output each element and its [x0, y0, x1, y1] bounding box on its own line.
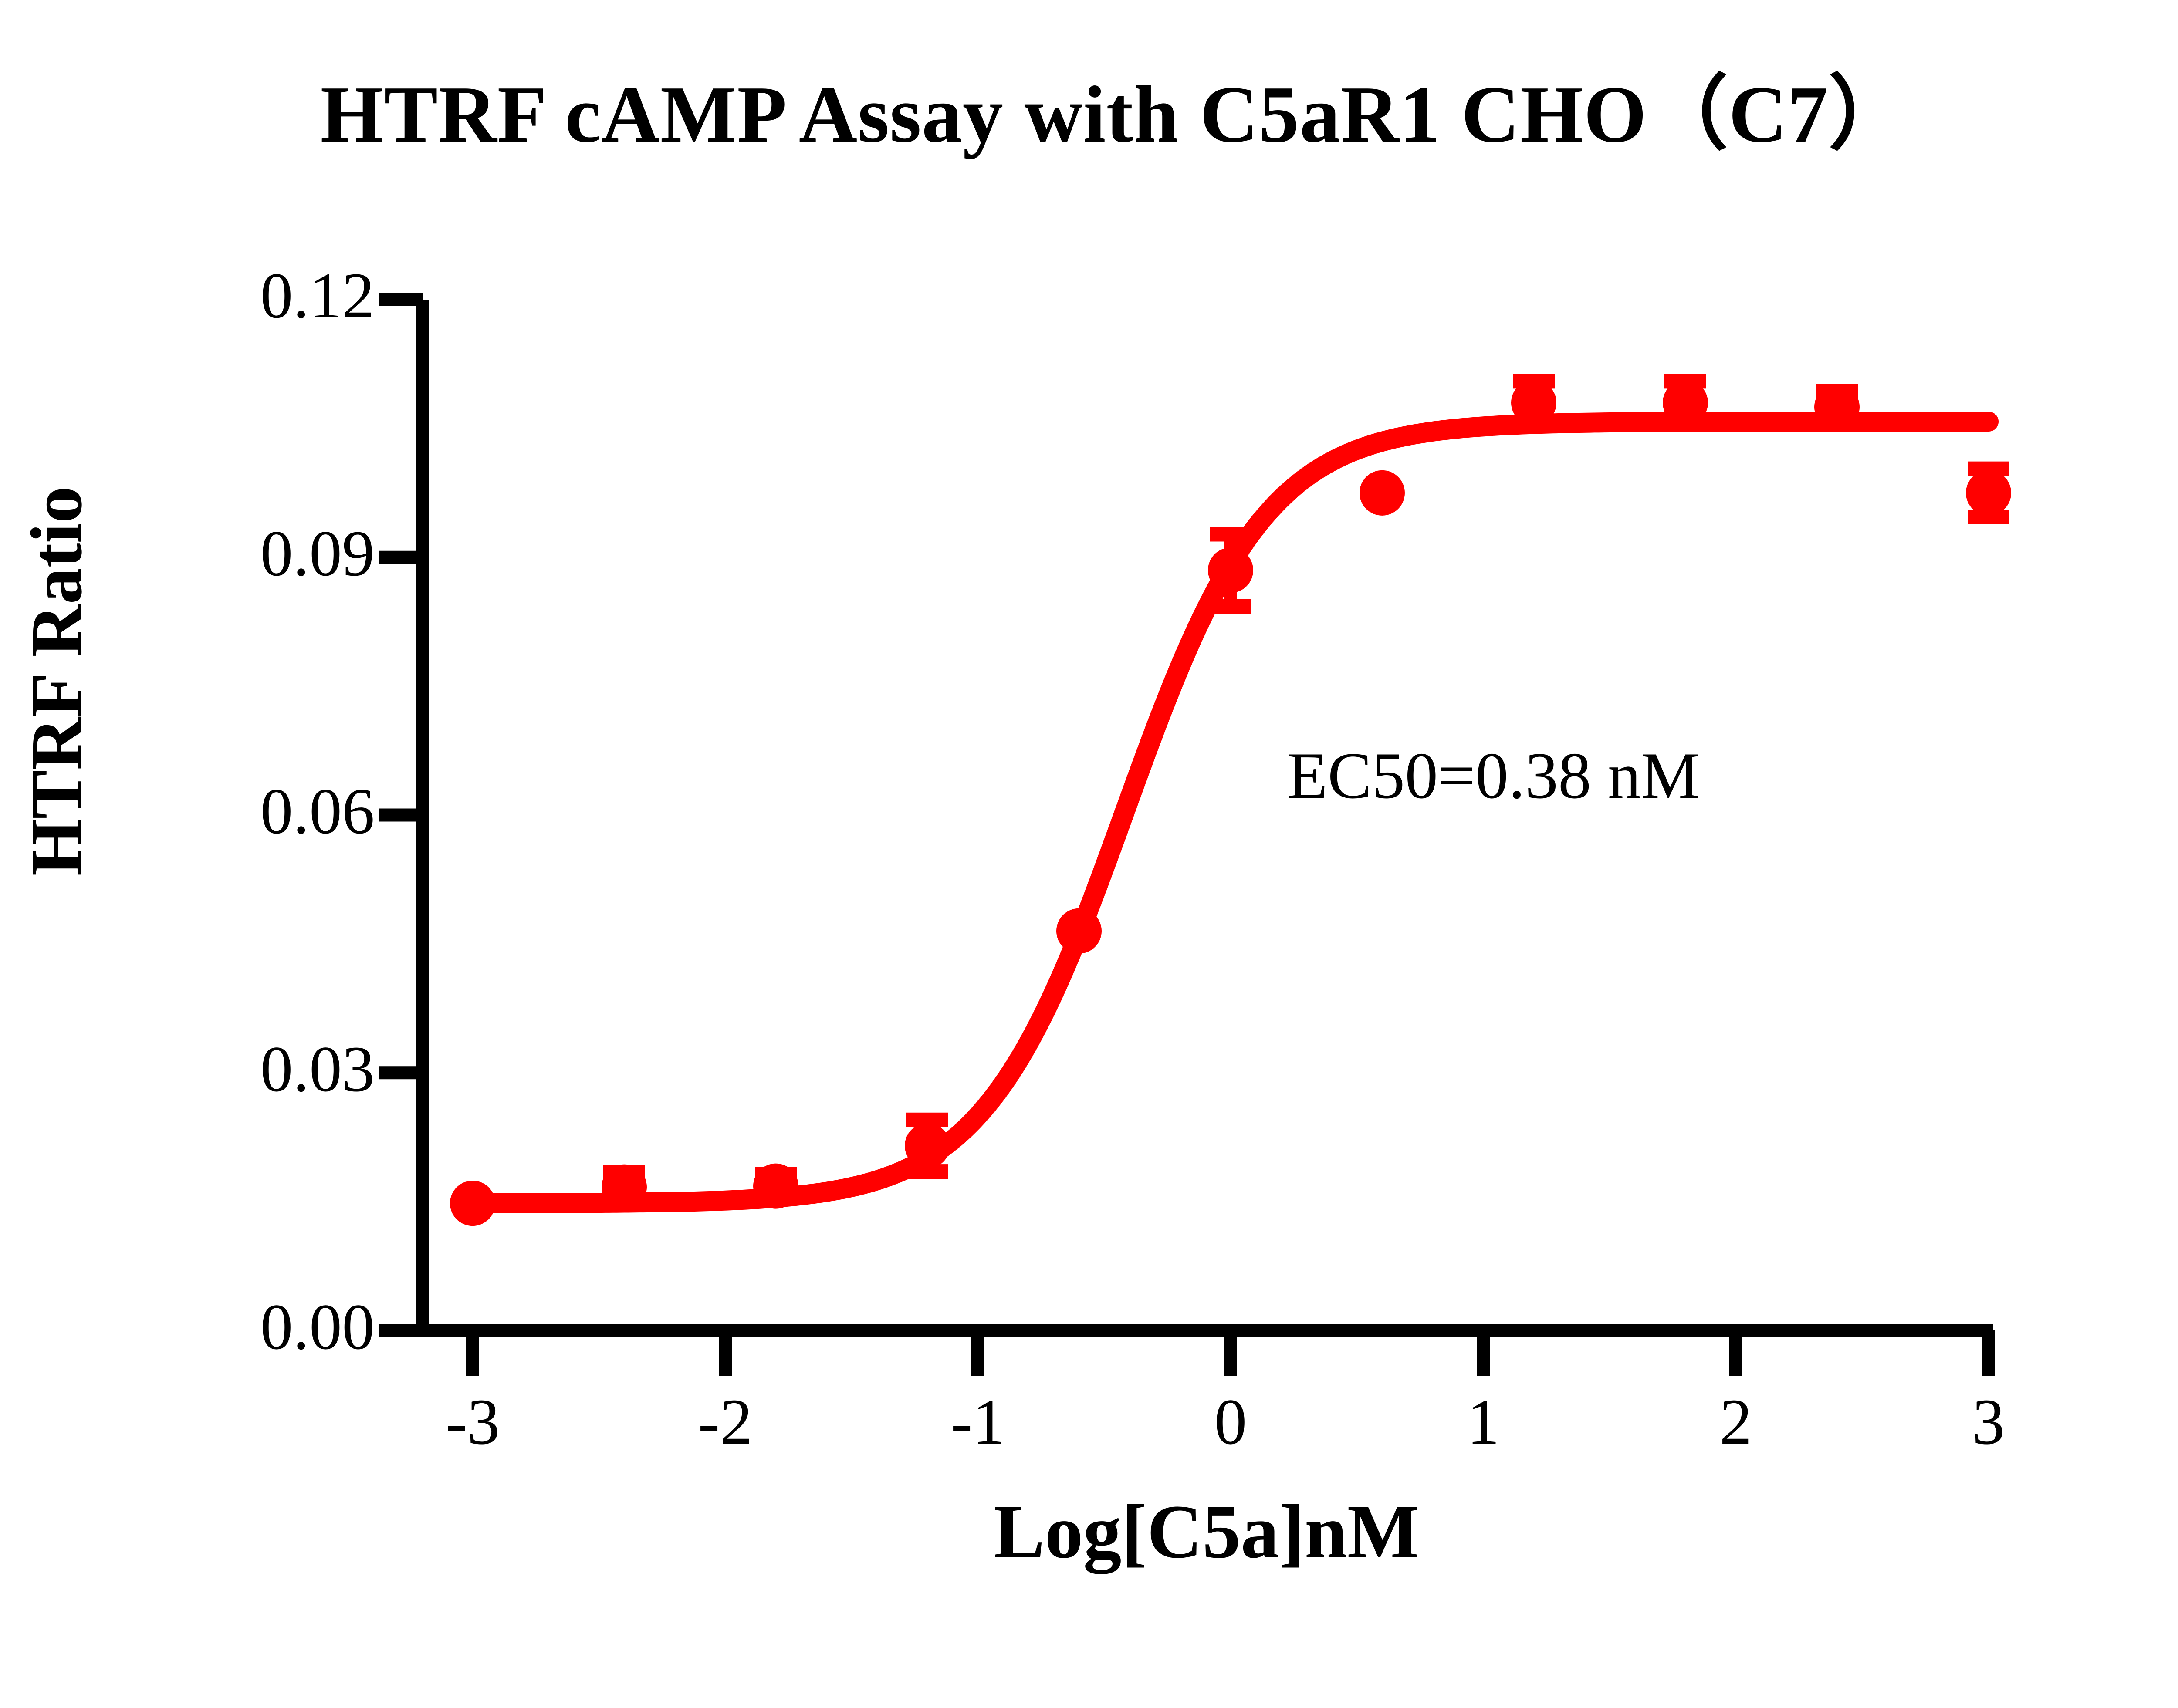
error-bars-group — [603, 381, 2009, 1202]
data-point-marker — [1208, 547, 1253, 593]
data-point-marker — [1360, 470, 1405, 516]
data-point-marker — [450, 1181, 495, 1226]
data-point-marker — [905, 1123, 950, 1168]
data-point-marker — [1966, 470, 2011, 516]
data-point-marker — [1663, 380, 1708, 425]
x-ticks-group — [473, 1330, 1989, 1376]
data-markers-group — [450, 380, 2011, 1226]
data-point-marker — [1056, 908, 1102, 954]
data-point-marker — [1511, 380, 1556, 425]
data-point-marker — [1814, 385, 1860, 430]
chart-figure: HTRF cAMP Assay with C5aR1 CHO（C7） HTRF … — [0, 0, 2178, 1708]
plot-area — [0, 0, 2178, 1708]
data-point-marker — [753, 1164, 798, 1209]
data-point-marker — [602, 1165, 647, 1210]
axes-group — [416, 300, 1993, 1330]
